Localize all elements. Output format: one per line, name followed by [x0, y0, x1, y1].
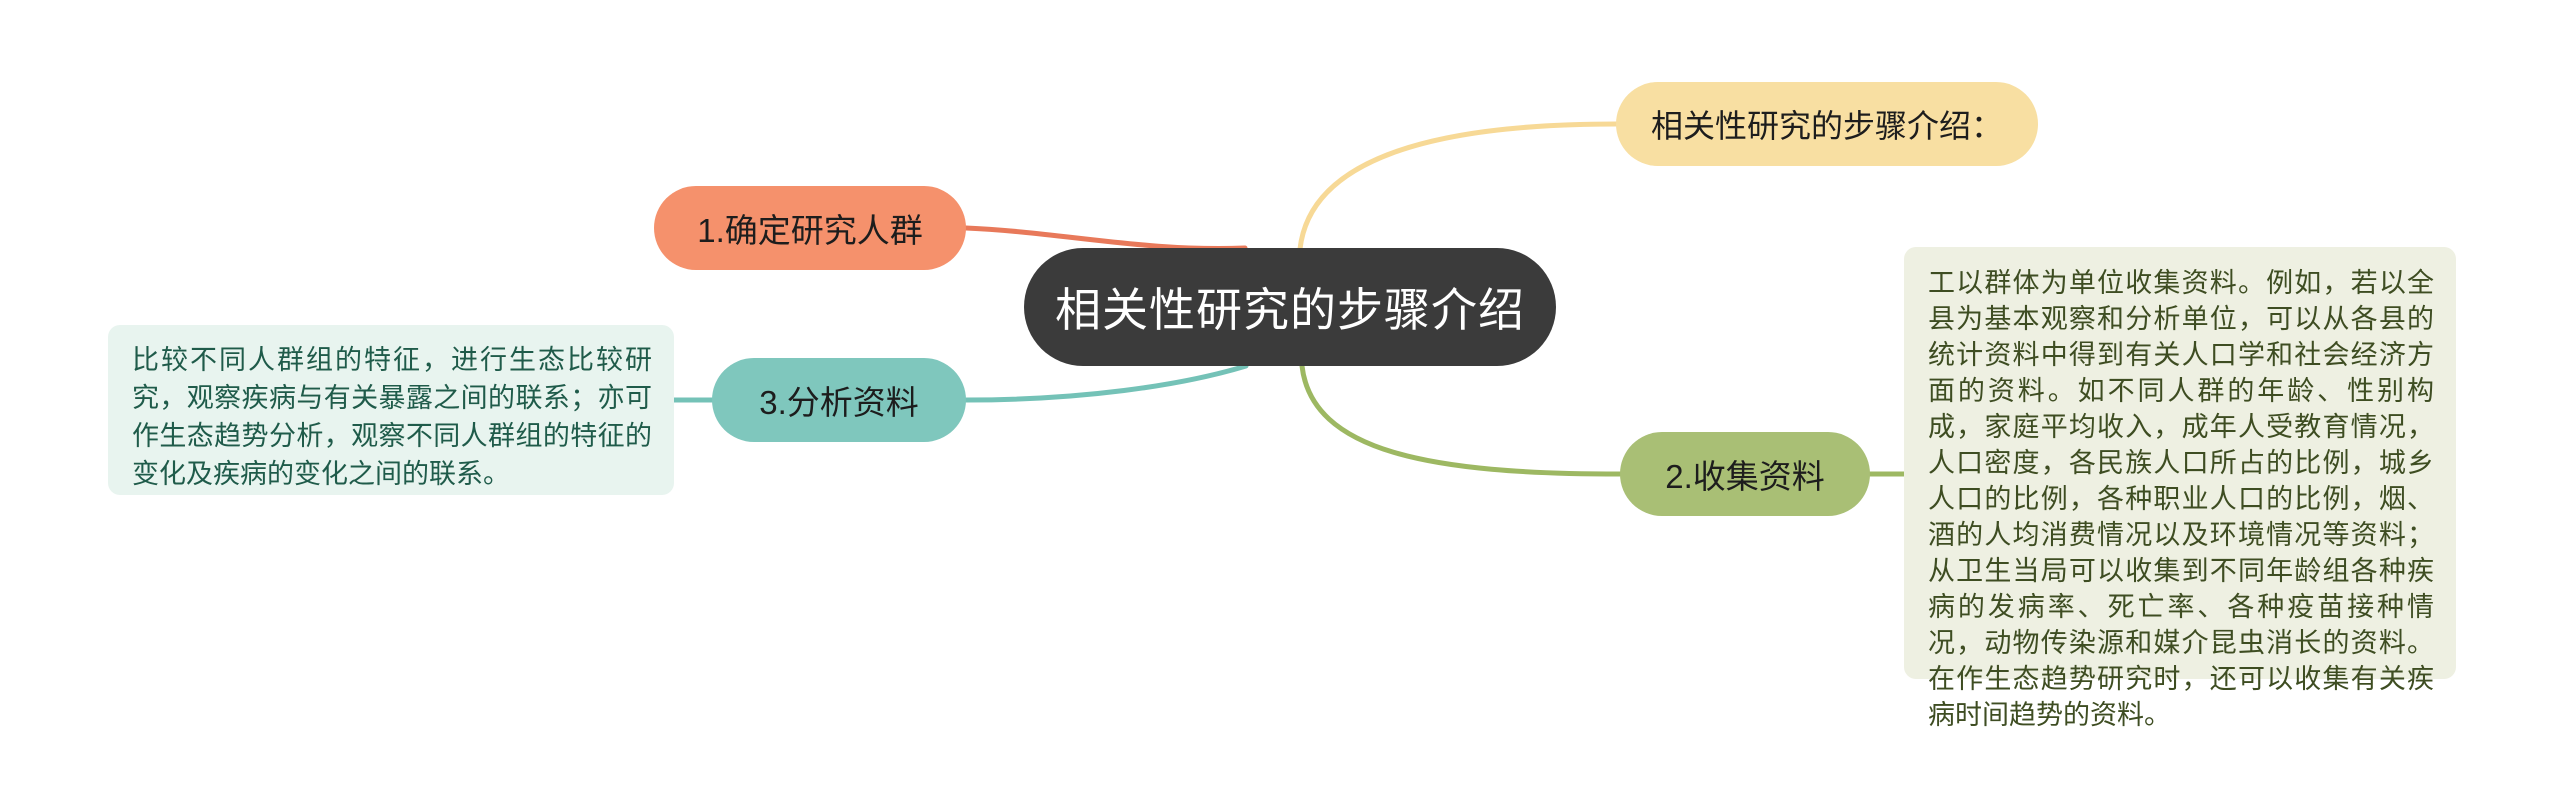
note-card-left[interactable]: 比较不同人群组的特征，进行生态比较研究，观察疾病与有关暴露之间的联系；亦可作生态… — [108, 325, 674, 495]
root-node[interactable]: 相关性研究的步骤介绍 — [1024, 248, 1556, 366]
note-card-right-text: 工以群体为单位收集资料。例如，若以全县为基本观察和分析单位，可以从各县的统计资料… — [1928, 268, 2434, 730]
branch-node-step2-label: 2.收集资料 — [1665, 450, 1825, 498]
branch-node-step3[interactable]: 3.分析资料 — [712, 358, 966, 442]
connector-step3 — [966, 366, 1246, 400]
note-card-right[interactable]: 工以群体为单位收集资料。例如，若以全县为基本观察和分析单位，可以从各县的统计资料… — [1904, 247, 2456, 679]
branch-node-intro[interactable]: 相关性研究的步骤介绍： — [1616, 82, 2038, 166]
branch-node-step3-label: 3.分析资料 — [759, 376, 919, 424]
connector-step1 — [966, 228, 1245, 249]
branch-node-step1[interactable]: 1.确定研究人群 — [654, 186, 966, 270]
note-card-left-text: 比较不同人群组的特征，进行生态比较研究，观察疾病与有关暴露之间的联系；亦可作生态… — [132, 345, 652, 489]
root-node-label: 相关性研究的步骤介绍 — [1055, 274, 1525, 340]
connector-step2 — [1302, 366, 1620, 474]
connector-intro — [1300, 124, 1616, 249]
branch-node-step1-label: 1.确定研究人群 — [697, 204, 923, 252]
branch-node-step2[interactable]: 2.收集资料 — [1620, 432, 1870, 516]
mindmap-canvas: 相关性研究的步骤介绍 1.确定研究人群 3.分析资料 2.收集资料 相关性研究的… — [0, 0, 2560, 791]
branch-node-intro-label: 相关性研究的步骤介绍： — [1651, 101, 2003, 147]
